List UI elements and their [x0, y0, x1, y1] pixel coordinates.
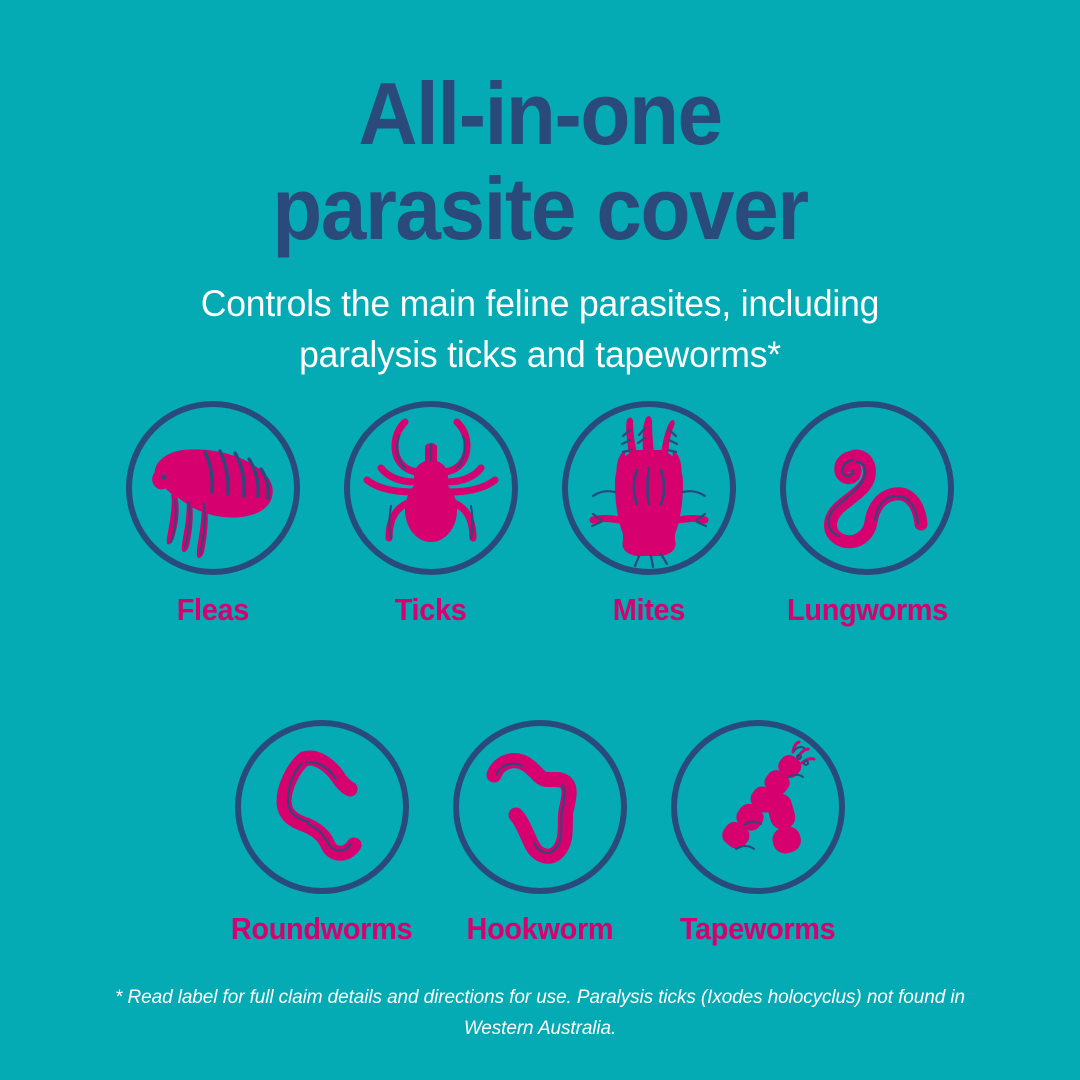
parasite-label-ticks: Ticks [395, 593, 467, 627]
parasite-item-fleas[interactable]: Fleas [118, 398, 308, 627]
mite-icon-disc [559, 398, 739, 578]
parasite-label-hookworm: Hookworm [467, 912, 614, 946]
parasite-label-mites: Mites [613, 593, 685, 627]
tapeworm-icon [668, 717, 848, 897]
page-title-line-1: All-in-one [38, 66, 1042, 161]
hookworm-icon-disc [450, 717, 630, 897]
parasite-item-lungworms[interactable]: Lungworms [772, 398, 962, 627]
page-subtitle-line-1: Controls the main feline parasites, incl… [22, 278, 1059, 329]
footnote-line-2: Western Australia. [464, 1018, 616, 1039]
roundworm-icon [232, 717, 412, 897]
page-subtitle-line-2: paralysis ticks and tapeworms* [22, 329, 1059, 380]
lungworm-icon-disc [777, 398, 957, 578]
footnote-line-1: * Read label for full claim details and … [115, 987, 965, 1008]
parasite-item-mites[interactable]: Mites [554, 398, 744, 627]
poster-canvas: All-in-one parasite cover Controls the m… [0, 0, 1080, 1080]
roundworm-icon-disc [232, 717, 412, 897]
page-subtitle: Controls the main feline parasites, incl… [22, 278, 1059, 380]
hookworm-icon [450, 717, 630, 897]
parasite-label-tapeworms: Tapeworms [680, 912, 836, 946]
tick-icon-disc [341, 398, 521, 578]
flea-icon [123, 398, 303, 578]
parasite-label-roundworms: Roundworms [231, 912, 412, 946]
parasite-icon-grid: Fleas [0, 398, 1080, 946]
page-title-line-2: parasite cover [38, 161, 1042, 256]
footnote: * Read label for full claim details and … [90, 982, 990, 1044]
parasite-label-fleas: Fleas [177, 593, 249, 627]
parasite-icon-row-1: Fleas [0, 398, 1080, 627]
tapeworm-icon-disc [668, 717, 848, 897]
flea-icon-disc [123, 398, 303, 578]
mite-icon [559, 398, 739, 578]
parasite-item-tapeworms[interactable]: Tapeworms [663, 717, 853, 946]
parasite-icon-row-2: Roundworms Hookworm [0, 717, 1080, 946]
lungworm-icon [777, 398, 957, 578]
parasite-item-hookworm[interactable]: Hookworm [445, 717, 635, 946]
page-title: All-in-one parasite cover [38, 66, 1042, 256]
parasite-item-ticks[interactable]: Ticks [336, 398, 526, 627]
parasite-label-lungworms: Lungworms [787, 593, 948, 627]
parasite-item-roundworms[interactable]: Roundworms [227, 717, 417, 946]
tick-icon [341, 398, 521, 578]
